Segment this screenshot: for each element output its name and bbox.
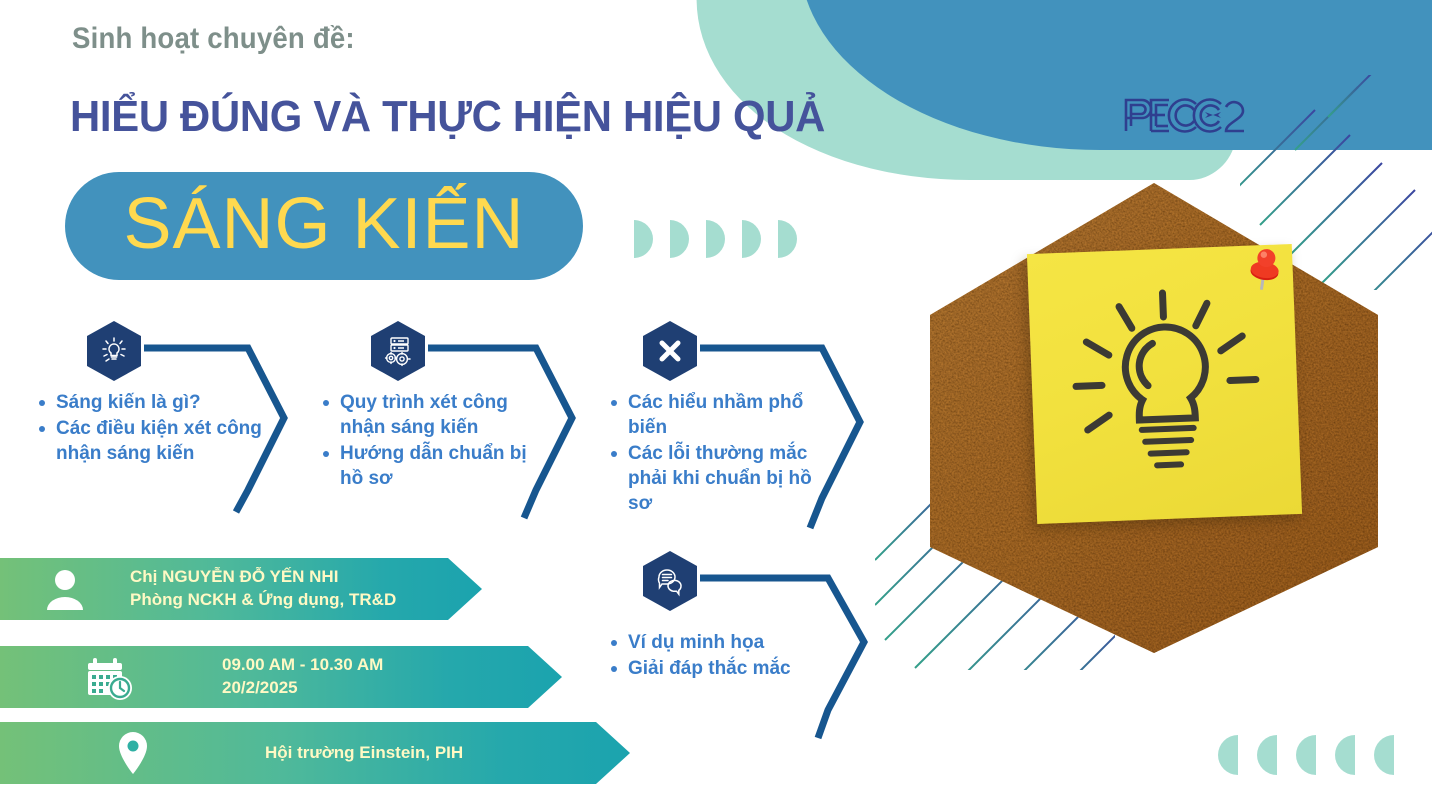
- speaker-department: Phòng NCKH & Ứng dụng, TR&D: [130, 589, 396, 612]
- person-icon: [0, 566, 130, 612]
- server-gears-icon: [382, 335, 414, 367]
- topic-bullets-3: Các hiểu nhầm phổ biến Các lỗi thường mắ…: [608, 390, 813, 517]
- bullet-item: Hướng dẫn chuẩn bị hồ sơ: [320, 441, 535, 491]
- topic-badge-1[interactable]: [84, 318, 144, 384]
- bullet-item: Các lỗi thường mắc phải khi chuẩn bị hồ …: [608, 441, 813, 516]
- pill-label: SÁNG KIẾN: [123, 188, 524, 260]
- bullet-item: Các điều kiện xét công nhận sáng kiến: [36, 416, 286, 466]
- bullet-item: Ví dụ minh họa: [608, 630, 823, 655]
- topic-bullets-4: Ví dụ minh họa Giải đáp thắc mắc: [608, 630, 823, 682]
- bullet-item: Giải đáp thắc mắc: [608, 656, 823, 681]
- page-title: HIỂU ĐÚNG VÀ THỰC HIỆN HIỆU QUẢ: [70, 92, 825, 142]
- half-circle: [778, 220, 797, 258]
- x-mark-icon: [654, 335, 686, 367]
- speaker-ribbon: Chị NGUYỄN ĐỖ YẾN NHI Phòng NCKH & Ứng d…: [0, 558, 482, 620]
- bullet-item: Quy trình xét công nhận sáng kiến: [320, 390, 535, 440]
- half-circle: [1296, 735, 1316, 775]
- topic-bullets-2: Quy trình xét công nhận sáng kiến Hướng …: [320, 390, 535, 492]
- event-location: Hội trường Einstein, PIH: [265, 742, 463, 765]
- event-time: 09.00 AM - 10.30 AM: [222, 654, 383, 677]
- half-circle: [1218, 735, 1238, 775]
- bullet-item: Sáng kiến là gì?: [36, 390, 286, 415]
- topic-badge-2[interactable]: [368, 318, 428, 384]
- half-circle: [742, 220, 761, 258]
- half-circle-decoration-top: [634, 220, 814, 258]
- half-circle: [670, 220, 689, 258]
- half-circle: [1374, 735, 1394, 775]
- pecc2-logo: [1122, 95, 1248, 135]
- half-circle-decoration-bottom: [1218, 735, 1413, 775]
- poster-canvas: Sinh hoạt chuyên đề: HIỂU ĐÚNG VÀ THỰC H…: [0, 0, 1432, 805]
- half-circle: [634, 220, 653, 258]
- half-circle: [706, 220, 725, 258]
- speaker-text-block: Chị NGUYỄN ĐỖ YẾN NHI Phòng NCKH & Ứng d…: [130, 566, 396, 612]
- time-ribbon: 09.00 AM - 10.30 AM 20/2/2025: [0, 646, 562, 708]
- half-circle: [1257, 735, 1277, 775]
- topic-bullets-1: Sáng kiến là gì? Các điều kiện xét công …: [36, 390, 286, 467]
- topic-badge-4[interactable]: [640, 548, 700, 614]
- bullet-item: Các hiểu nhầm phổ biến: [608, 390, 813, 440]
- time-text-block: 09.00 AM - 10.30 AM 20/2/2025: [222, 654, 383, 700]
- location-pin-icon: [0, 730, 265, 776]
- event-date: 20/2/2025: [222, 677, 383, 700]
- chat-bubbles-icon: [654, 565, 686, 597]
- cork-board-photo: [884, 155, 1432, 675]
- push-pin-icon: [1245, 242, 1285, 294]
- topic-badge-3[interactable]: [640, 318, 700, 384]
- lightbulb-icon: [98, 335, 130, 367]
- speaker-name: Chị NGUYỄN ĐỖ YẾN NHI: [130, 566, 396, 589]
- location-ribbon: Hội trường Einstein, PIH: [0, 722, 630, 784]
- half-circle: [1335, 735, 1355, 775]
- kicker-text: Sinh hoạt chuyên đề:: [72, 22, 355, 56]
- sang-kien-pill: SÁNG KIẾN: [65, 172, 583, 280]
- calendar-clock-icon: [0, 652, 222, 702]
